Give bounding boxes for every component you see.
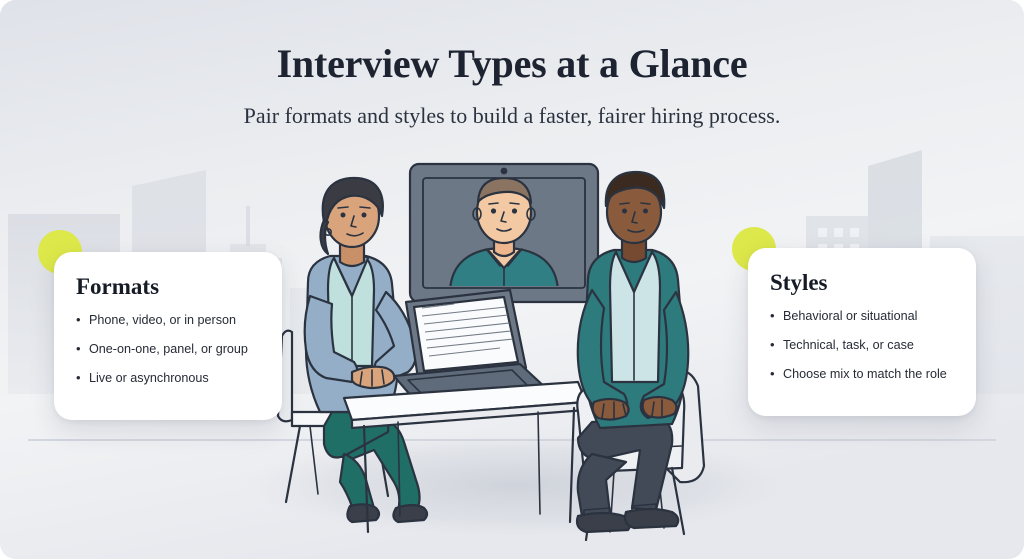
list-item: Behavioral or situational <box>770 309 960 325</box>
card-formats-list: Phone, video, or in person One-on-one, p… <box>76 313 262 386</box>
video-screen <box>410 164 598 302</box>
card-formats-heading: Formats <box>76 274 262 299</box>
interview-illustration: .ln { stroke:#2b3340; stroke-width:2.2; … <box>248 150 778 550</box>
list-item: Live or asynchronous <box>76 371 262 387</box>
webcam-dot <box>501 168 508 175</box>
header-block: Interview Types at a Glance Pair formats… <box>0 42 1024 129</box>
list-item: One-on-one, panel, or group <box>76 342 262 358</box>
card-styles-heading: Styles <box>770 270 960 295</box>
card-styles: Styles Behavioral or situational Technic… <box>748 248 976 416</box>
card-styles-list: Behavioral or situational Technical, tas… <box>770 309 960 382</box>
list-item: Technical, task, or case <box>770 338 960 354</box>
infographic-canvas: Interview Types at a Glance Pair formats… <box>0 0 1024 559</box>
page-subtitle: Pair formats and styles to build a faste… <box>0 103 1024 129</box>
list-item: Phone, video, or in person <box>76 313 262 329</box>
list-item: Choose mix to match the role <box>770 367 960 383</box>
page-title: Interview Types at a Glance <box>0 42 1024 86</box>
card-formats: Formats Phone, video, or in person One-o… <box>54 252 282 420</box>
